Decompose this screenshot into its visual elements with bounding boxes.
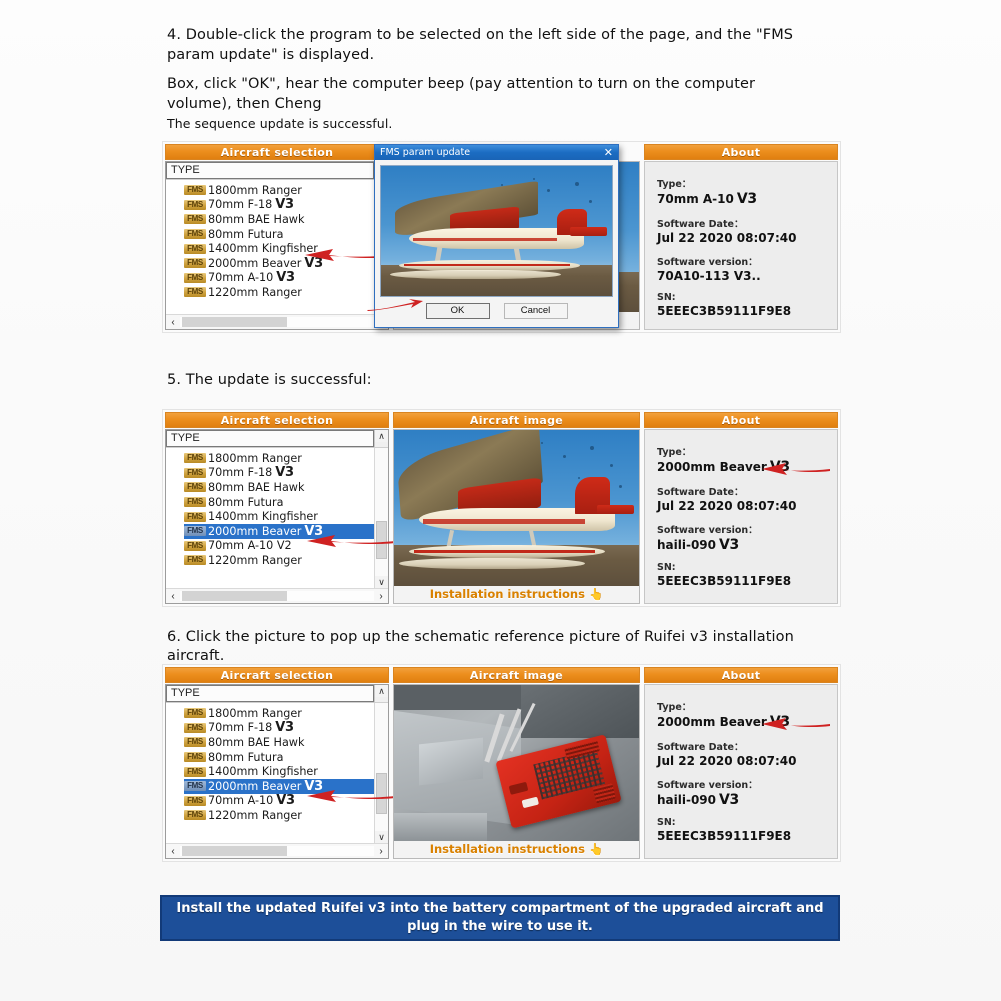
sn-value-3: 5EEEC3B59111F9E8 bbox=[657, 829, 837, 843]
app-window-step4: Aircraft selection TYPE FMS1800mm Ranger… bbox=[163, 142, 840, 332]
list-item[interactable]: FMS2000mm BeaverV3 bbox=[184, 779, 374, 794]
step-6-text: 6. Click the picture to pop up the schem… bbox=[167, 628, 827, 666]
fms-brand-icon: FMS bbox=[184, 214, 206, 224]
list-item-label: 2000mm Beaver bbox=[208, 257, 301, 270]
dialog-title-bar: FMS param update ✕ bbox=[375, 145, 618, 160]
list-item-label: 70mm F-18 bbox=[208, 466, 272, 479]
list-item[interactable]: FMS70mm F-18V3 bbox=[184, 198, 388, 213]
h-scroll-track-3[interactable] bbox=[180, 846, 374, 856]
horizontal-scrollbar-2[interactable]: ‹ › bbox=[166, 588, 388, 603]
software-version-text-3: haili-090 bbox=[657, 793, 716, 807]
fms-brand-icon: FMS bbox=[184, 244, 206, 254]
h-scroll-thumb-3[interactable] bbox=[182, 846, 287, 856]
list-item[interactable]: FMS1220mm Ranger bbox=[184, 285, 388, 300]
list-item-version: V3 bbox=[276, 793, 295, 808]
type-input-2[interactable]: TYPE bbox=[166, 430, 374, 447]
fms-brand-icon: FMS bbox=[184, 287, 206, 297]
type-version-1: V3 bbox=[737, 191, 757, 207]
list-item[interactable]: FMS1400mm Kingfisher bbox=[184, 764, 374, 779]
list-item-label: 1220mm Ranger bbox=[208, 809, 302, 822]
list-item-label: 1220mm Ranger bbox=[208, 286, 302, 299]
list-item-label: 70mm F-18 bbox=[208, 721, 272, 734]
list-item[interactable]: FMS70mm F-18V3 bbox=[184, 466, 374, 481]
scroll-up-icon-3[interactable]: ∧ bbox=[375, 685, 388, 697]
fms-brand-icon: FMS bbox=[184, 555, 206, 565]
aircraft-image-header-3: Aircraft image bbox=[393, 667, 640, 683]
aircraft-selection-panel-2: Aircraft selection TYPE ∧ FMS1800mm Rang… bbox=[163, 410, 391, 606]
step-4-result-text: The sequence update is successful. bbox=[167, 116, 807, 133]
list-item[interactable]: FMS70mm A-10V3 bbox=[184, 794, 374, 809]
aircraft-selection-header-3: Aircraft selection bbox=[165, 667, 389, 683]
type-scroll-stub-2: ∧ bbox=[374, 430, 388, 447]
list-item-label: 1400mm Kingfisher bbox=[208, 242, 318, 255]
fms-brand-icon: FMS bbox=[184, 512, 206, 522]
type-label-3: Type： bbox=[657, 699, 837, 713]
list-item[interactable]: FMS70mm A-10 V2 bbox=[184, 539, 374, 554]
fms-brand-icon: FMS bbox=[184, 526, 206, 536]
fms-brand-icon: FMS bbox=[184, 708, 206, 718]
step-4-text: 4. Double-click the program to be select… bbox=[167, 26, 807, 65]
about-panel-1: About Type： 70mm A-10V3 Software Date： J… bbox=[642, 142, 840, 332]
scroll-left-icon-2[interactable]: ‹ bbox=[166, 591, 180, 602]
type-value-1: 70mm A-10V3 bbox=[657, 191, 837, 207]
about-panel-2: About Type： 2000mm BeaverV3 Software Dat… bbox=[642, 410, 840, 606]
fms-brand-icon: FMS bbox=[184, 273, 206, 283]
list-item[interactable]: FMS1220mm Ranger bbox=[184, 553, 374, 568]
close-icon[interactable]: ✕ bbox=[604, 145, 613, 160]
app-window-step6: Aircraft selection TYPE ∧ FMS1800mm Rang… bbox=[163, 665, 840, 861]
list-item[interactable]: FMS1800mm Ranger bbox=[184, 451, 374, 466]
h-scroll-thumb[interactable] bbox=[182, 317, 287, 327]
list-item[interactable]: FMS80mm BAE Hawk bbox=[184, 735, 374, 750]
list-item-label: 1400mm Kingfisher bbox=[208, 510, 318, 523]
fms-brand-icon: FMS bbox=[184, 767, 206, 777]
list-item-label: 70mm A-10 V2 bbox=[208, 539, 292, 552]
list-item[interactable]: FMS1400mm Kingfisher bbox=[184, 241, 388, 256]
type-row-2: TYPE ∧ bbox=[166, 430, 388, 448]
list-item-label: 70mm F-18 bbox=[208, 198, 272, 211]
fms-brand-icon: FMS bbox=[184, 781, 206, 791]
horizontal-scrollbar-1[interactable]: ‹ › bbox=[166, 314, 388, 329]
list-item-label: 1800mm Ranger bbox=[208, 184, 302, 197]
install-caption-text-2: Installation instructions bbox=[430, 587, 585, 601]
scroll-up-icon-2[interactable]: ∧ bbox=[375, 430, 388, 442]
software-version-text-2: haili-090 bbox=[657, 538, 716, 552]
software-version-value-3: haili-090V3 bbox=[657, 792, 837, 808]
sn-value-1: 5EEEC3B59111F9E8 bbox=[657, 304, 837, 318]
type-label-1: Type： bbox=[657, 176, 837, 190]
fms-brand-icon: FMS bbox=[184, 810, 206, 820]
list-item[interactable]: FMS80mm Futura bbox=[184, 750, 374, 765]
aircraft-image-panel-2: Aircraft image bbox=[391, 410, 642, 606]
type-value-3: 2000mm BeaverV3 bbox=[657, 714, 837, 730]
list-item-label: 80mm Futura bbox=[208, 751, 283, 764]
sn-label-1: SN: bbox=[657, 292, 837, 303]
sn-value-2: 5EEEC3B59111F9E8 bbox=[657, 574, 837, 588]
install-caption-text-3: Installation instructions bbox=[430, 842, 585, 856]
scroll-down-icon-3[interactable]: ∨ bbox=[375, 831, 388, 843]
type-scroll-stub-3: ∧ bbox=[374, 685, 388, 702]
list-item-label: 1400mm Kingfisher bbox=[208, 765, 318, 778]
pointing-hand-icon-3: 👆 bbox=[589, 842, 603, 856]
h-scroll-track[interactable] bbox=[180, 317, 374, 327]
install-instructions-caption-3[interactable]: Installation instructions 👆 bbox=[394, 841, 639, 858]
horizontal-scrollbar-3[interactable]: ‹ › bbox=[166, 843, 388, 858]
software-date-label-1: Software Date： bbox=[657, 216, 837, 230]
list-item-version: V3 bbox=[304, 779, 323, 794]
step-4-text-continued: Box, click "OK", hear the computer beep … bbox=[167, 75, 807, 114]
scroll-left-icon-3[interactable]: ‹ bbox=[166, 846, 180, 857]
aircraft-photo-2[interactable] bbox=[394, 430, 639, 586]
type-row-3: TYPE ∧ bbox=[166, 685, 388, 703]
document-page: 4. Double-click the program to be select… bbox=[0, 0, 1001, 1001]
scroll-right-icon-3[interactable]: › bbox=[374, 846, 388, 857]
v-scroll-thumb-2[interactable] bbox=[376, 521, 387, 559]
aircraft-selection-header-2: Aircraft selection bbox=[165, 412, 389, 428]
list-item-label: 1800mm Ranger bbox=[208, 707, 302, 720]
fms-brand-icon: FMS bbox=[184, 200, 206, 210]
list-item[interactable]: FMS2000mm BeaverV3 bbox=[184, 524, 374, 539]
type-row: TYPE bbox=[166, 162, 388, 180]
software-date-value-2: Jul 22 2020 08:07:40 bbox=[657, 499, 837, 513]
install-instructions-caption-2[interactable]: Installation instructions 👆 bbox=[394, 586, 639, 603]
about-header-2: About bbox=[644, 412, 838, 428]
type-value-text-2: 2000mm Beaver bbox=[657, 460, 767, 474]
aircraft-image-panel-3: Aircraft image bbox=[391, 665, 642, 861]
list-item-label: 2000mm Beaver bbox=[208, 780, 301, 793]
aircraft-selection-panel-3: Aircraft selection TYPE ∧ FMS1800mm Rang… bbox=[163, 665, 391, 861]
fms-brand-icon: FMS bbox=[184, 258, 206, 268]
fms-brand-icon: FMS bbox=[184, 752, 206, 762]
type-value-text-3: 2000mm Beaver bbox=[657, 715, 767, 729]
about-header-3: About bbox=[644, 667, 838, 683]
aircraft-image-header-2: Aircraft image bbox=[393, 412, 640, 428]
fms-brand-icon: FMS bbox=[184, 468, 206, 478]
list-item[interactable]: FMS1220mm Ranger bbox=[184, 808, 374, 823]
scroll-left-icon[interactable]: ‹ bbox=[166, 317, 180, 328]
software-version-label-3: Software version： bbox=[657, 777, 837, 791]
list-item-label: 70mm A-10 bbox=[208, 794, 273, 807]
software-version-value-1: 70A10-113 V3.. bbox=[657, 269, 837, 283]
aircraft-selection-header: Aircraft selection bbox=[165, 144, 389, 160]
type-input-3[interactable]: TYPE bbox=[166, 685, 374, 702]
fms-brand-icon: FMS bbox=[184, 482, 206, 492]
aircraft-list-1[interactable]: FMS1800mm RangerFMS70mm F-18V3FMS80mm BA… bbox=[166, 180, 388, 314]
list-item-label: 80mm BAE Hawk bbox=[208, 481, 304, 494]
list-item-label: 80mm Futura bbox=[208, 496, 283, 509]
list-item-version: V3 bbox=[275, 197, 294, 212]
list-item[interactable]: FMS70mm F-18V3 bbox=[184, 721, 374, 736]
list-item-version: V3 bbox=[304, 524, 323, 539]
vertical-scrollbar-2[interactable]: ∨ bbox=[374, 448, 388, 588]
list-item-version: V3 bbox=[275, 465, 294, 480]
dialog-aircraft-photo[interactable] bbox=[380, 165, 613, 297]
h-scroll-thumb-2[interactable] bbox=[182, 591, 287, 601]
software-version-suffix-2: V3 bbox=[719, 537, 739, 553]
installation-photo-3[interactable] bbox=[394, 685, 639, 841]
cancel-button[interactable]: Cancel bbox=[504, 303, 568, 319]
type-version-3: V3 bbox=[770, 714, 790, 730]
list-item-label: 80mm BAE Hawk bbox=[208, 736, 304, 749]
list-item-version: V3 bbox=[275, 720, 294, 735]
step-5-text: 5. The update is successful: bbox=[167, 371, 807, 391]
v-scroll-thumb-3[interactable] bbox=[376, 773, 387, 814]
list-item[interactable]: FMS1800mm Ranger bbox=[184, 706, 374, 721]
aircraft-selection-panel-1: Aircraft selection TYPE FMS1800mm Ranger… bbox=[163, 142, 391, 332]
list-item[interactable]: FMS80mm Futura bbox=[184, 495, 374, 510]
scroll-down-icon-2[interactable]: ∨ bbox=[375, 576, 388, 588]
list-item[interactable]: FMS1400mm Kingfisher bbox=[184, 509, 374, 524]
software-date-value-3: Jul 22 2020 08:07:40 bbox=[657, 754, 837, 768]
aircraft-list-2[interactable]: FMS1800mm RangerFMS70mm F-18V3FMS80mm BA… bbox=[166, 448, 374, 588]
list-item[interactable]: FMS1800mm Ranger bbox=[184, 183, 388, 198]
software-date-label-2: Software Date： bbox=[657, 484, 837, 498]
type-value-text-1: 70mm A-10 bbox=[657, 192, 734, 206]
type-label-2: Type： bbox=[657, 444, 837, 458]
pointing-hand-icon-2: 👆 bbox=[589, 587, 603, 601]
fms-brand-icon: FMS bbox=[184, 453, 206, 463]
list-item[interactable]: FMS80mm BAE Hawk bbox=[184, 480, 374, 495]
list-item-label: 80mm Futura bbox=[208, 228, 283, 241]
app-window-step5: Aircraft selection TYPE ∧ FMS1800mm Rang… bbox=[163, 410, 840, 606]
fms-brand-icon: FMS bbox=[184, 737, 206, 747]
list-item[interactable]: FMS70mm A-10V3 bbox=[184, 271, 388, 286]
sn-label-2: SN: bbox=[657, 562, 837, 573]
software-date-label-3: Software Date： bbox=[657, 739, 837, 753]
software-version-label-2: Software version： bbox=[657, 522, 837, 536]
scroll-right-icon-2[interactable]: › bbox=[374, 591, 388, 602]
ok-button[interactable]: OK bbox=[426, 303, 490, 319]
type-value-2: 2000mm BeaverV3 bbox=[657, 459, 837, 475]
type-input[interactable]: TYPE bbox=[166, 162, 374, 179]
software-date-value-1: Jul 22 2020 08:07:40 bbox=[657, 231, 837, 245]
fms-brand-icon: FMS bbox=[184, 541, 206, 551]
fms-brand-icon: FMS bbox=[184, 229, 206, 239]
list-item-label: 1800mm Ranger bbox=[208, 452, 302, 465]
aircraft-list-3[interactable]: FMS1800mm RangerFMS70mm F-18V3FMS80mm BA… bbox=[166, 703, 374, 843]
list-item-label: 1220mm Ranger bbox=[208, 554, 302, 567]
list-item[interactable]: FMS80mm BAE Hawk bbox=[184, 212, 388, 227]
footer-text: Install the updated Ruifei v3 into the b… bbox=[176, 900, 824, 935]
list-item-version: V3 bbox=[304, 256, 323, 271]
fms-brand-icon: FMS bbox=[184, 185, 206, 195]
list-item-label: 80mm BAE Hawk bbox=[208, 213, 304, 226]
fms-brand-icon: FMS bbox=[184, 796, 206, 806]
list-item[interactable]: FMS2000mm BeaverV3 bbox=[184, 256, 388, 271]
about-panel-3: About Type： 2000mm BeaverV3 Software Dat… bbox=[642, 665, 840, 861]
list-item-label: 70mm A-10 bbox=[208, 271, 273, 284]
about-header-1: About bbox=[644, 144, 838, 160]
list-item-version: V3 bbox=[276, 270, 295, 285]
software-version-label-1: Software version： bbox=[657, 254, 837, 268]
dialog-title-text: FMS param update bbox=[380, 145, 470, 160]
vertical-scrollbar-3[interactable]: ∨ bbox=[374, 703, 388, 843]
fms-brand-icon: FMS bbox=[184, 723, 206, 733]
footer-banner: Install the updated Ruifei v3 into the b… bbox=[160, 895, 840, 941]
software-version-value-2: haili-090V3 bbox=[657, 537, 837, 553]
type-version-2: V3 bbox=[770, 459, 790, 475]
list-item-label: 2000mm Beaver bbox=[208, 525, 301, 538]
fms-brand-icon: FMS bbox=[184, 497, 206, 507]
h-scroll-track-2[interactable] bbox=[180, 591, 374, 601]
fms-param-update-dialog[interactable]: FMS param update ✕ bbox=[374, 144, 619, 328]
software-version-suffix-3: V3 bbox=[719, 792, 739, 808]
sn-label-3: SN: bbox=[657, 817, 837, 828]
list-item[interactable]: FMS80mm Futura bbox=[184, 227, 388, 242]
